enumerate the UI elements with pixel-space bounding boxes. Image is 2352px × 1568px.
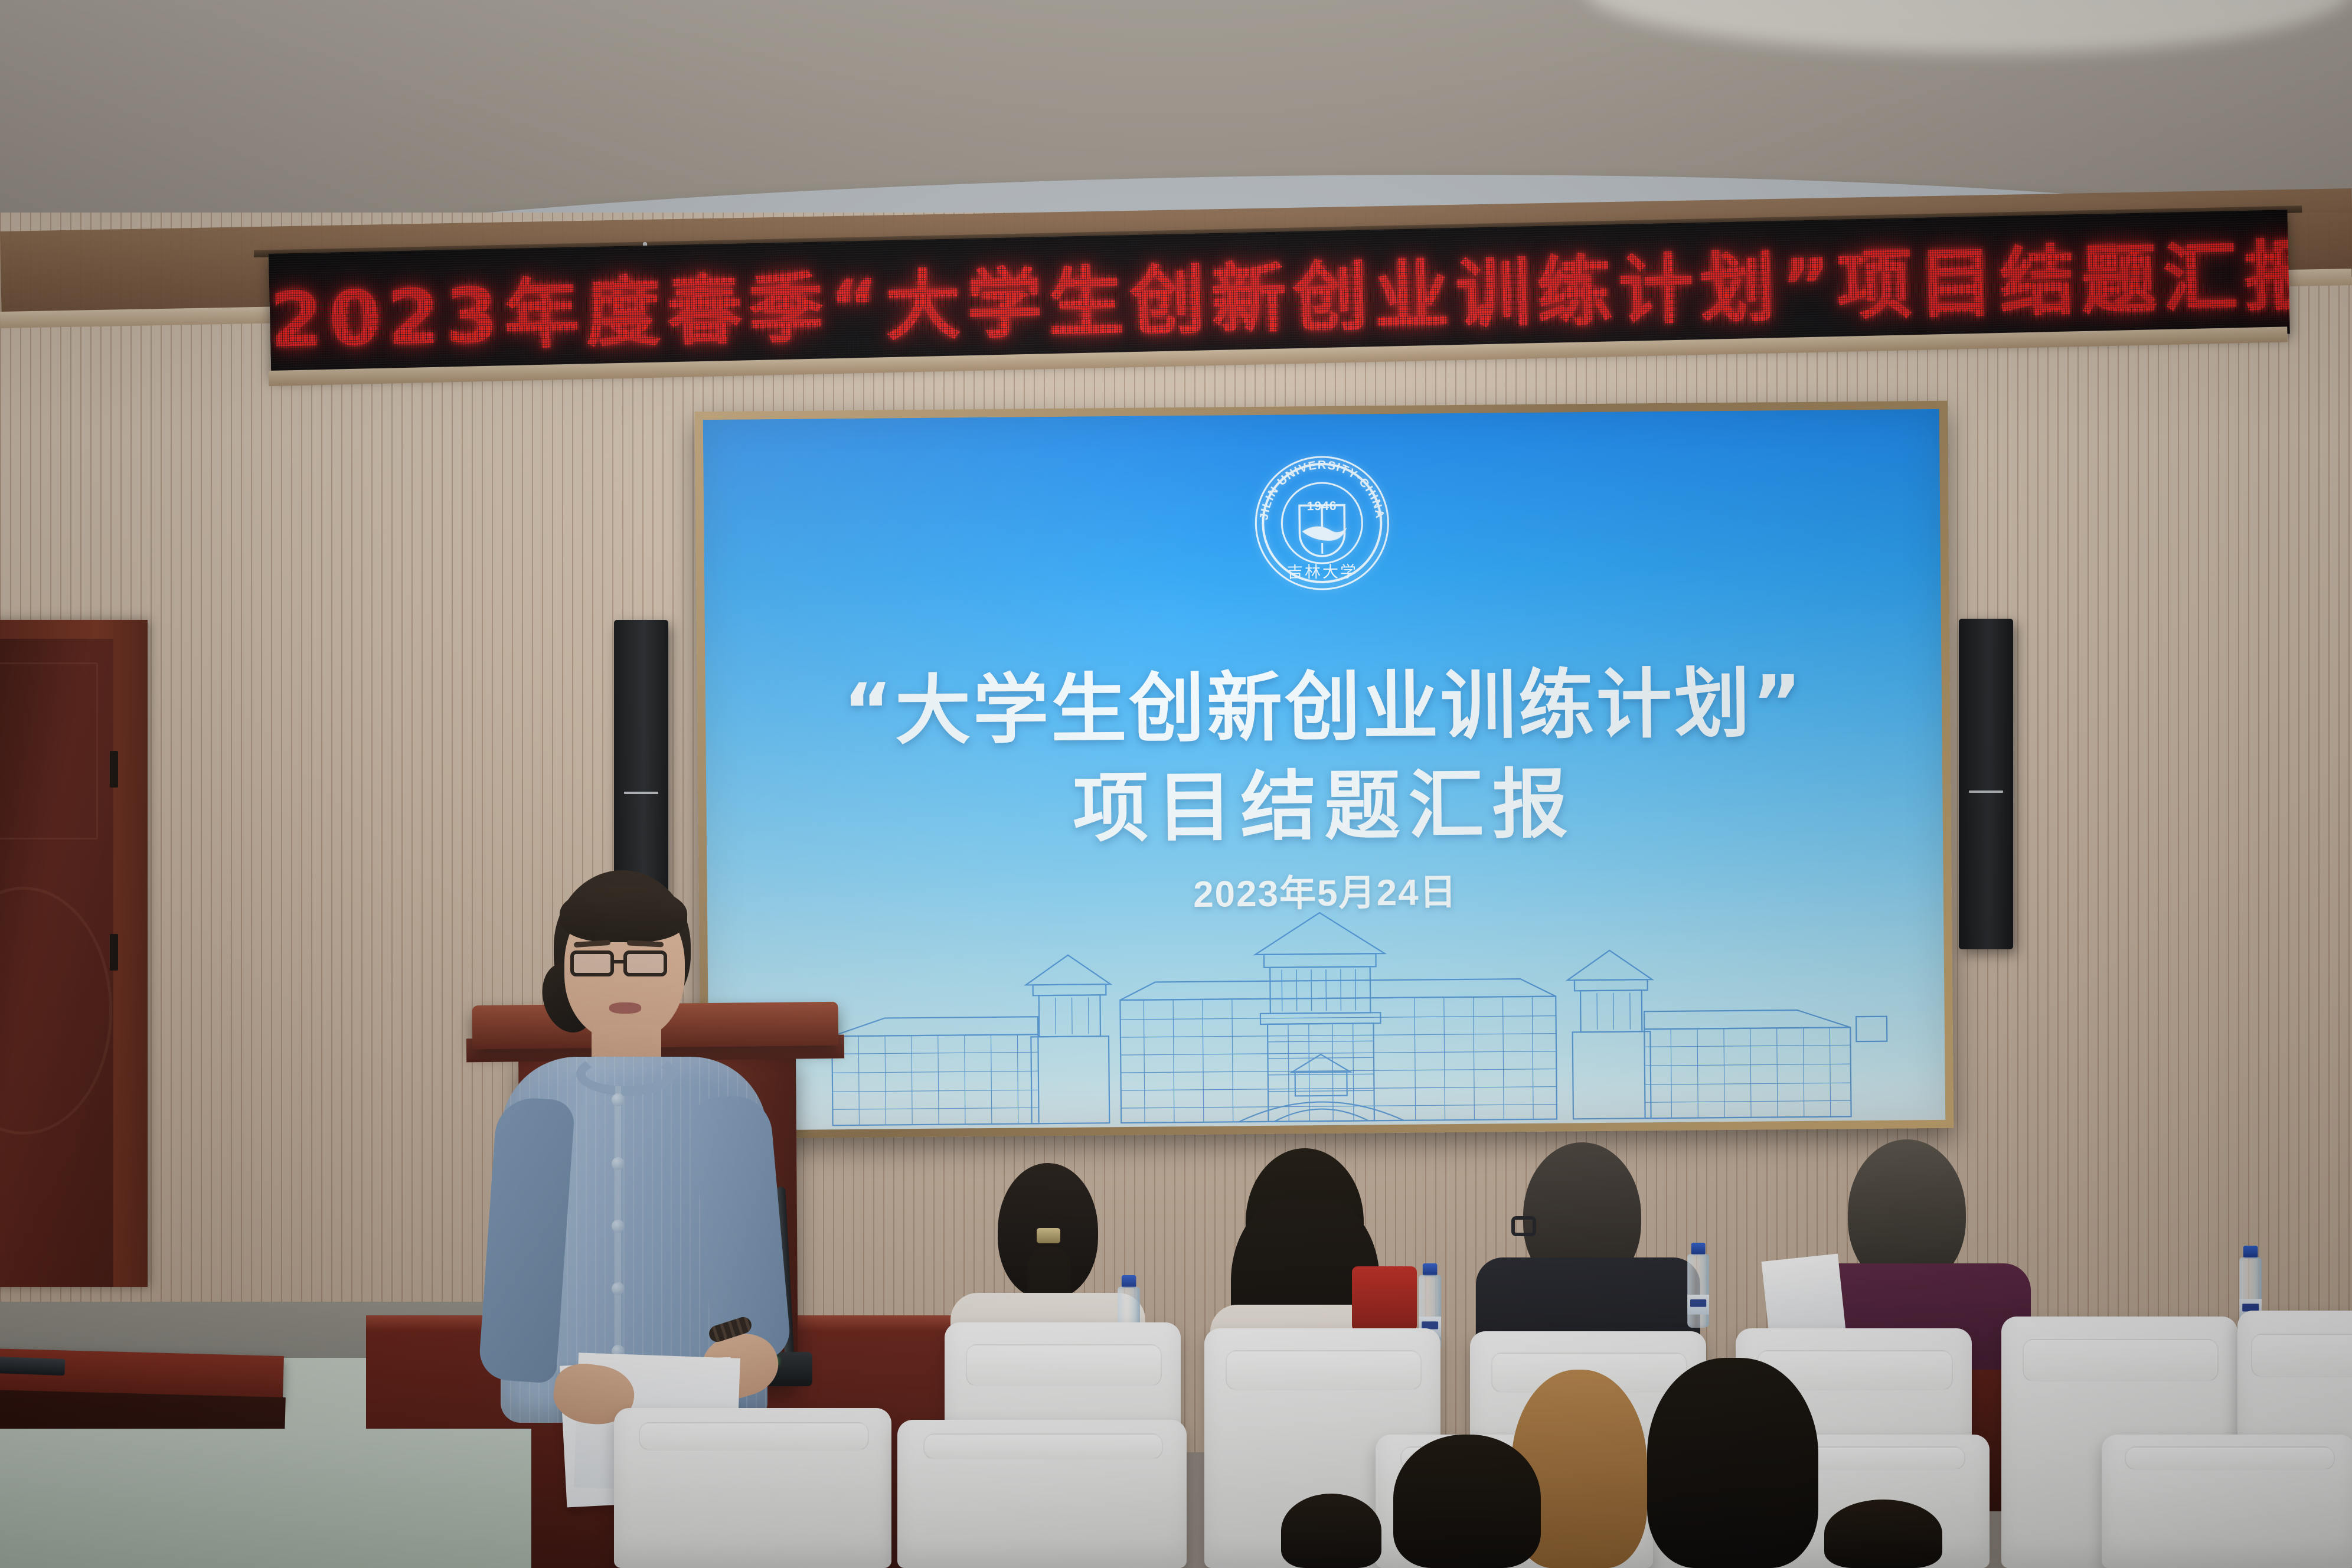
conference-hall-photo: 2023年度春季“大学生创新创业训练计划”项目结题汇报会 JILIN UNIV bbox=[0, 0, 2352, 1568]
photo-vignette bbox=[0, 0, 2352, 1568]
